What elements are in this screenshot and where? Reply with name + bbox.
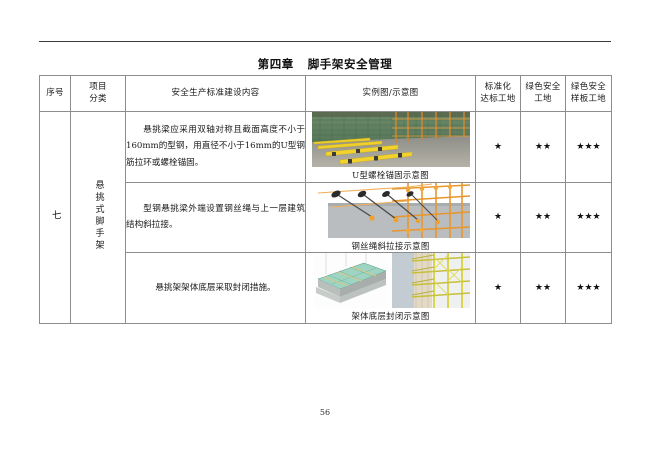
row-content: 悬挑架架体底层采取封闭措施。 xyxy=(126,253,306,324)
row-figure: 架体底层封闭示意图 xyxy=(306,253,476,324)
column-header-standard-site: 标准化 达标工地 xyxy=(476,76,521,112)
figure-bottom-seal-render xyxy=(312,253,470,308)
rating-standard-site: ★ xyxy=(476,182,521,253)
figure-caption: 架体底层封闭示意图 xyxy=(306,310,475,323)
column-header-figure: 实例图/示意图 xyxy=(306,76,476,112)
column-header-green-site: 绿色安全 工地 xyxy=(521,76,566,112)
row-content: 型钢悬挑梁外端设置钢丝绳与上一层建筑结构斜拉接。 xyxy=(126,182,306,253)
page-number: 56 xyxy=(0,408,650,417)
rating-green-model-site: ★★★ xyxy=(566,182,612,253)
figure-cantilever-beams-photo xyxy=(312,112,470,167)
row-content-text: 型钢悬挑梁外端设置钢丝绳与上一层建筑结构斜拉接。 xyxy=(126,201,305,235)
group-serial-text: 七 xyxy=(50,210,60,223)
table-row: 七 悬挑式脚手架 悬挑梁应采用双轴对称且截面高度不小于160mm的型钢，用直径不… xyxy=(40,112,612,183)
figure-caption: U型螺栓锚固示意图 xyxy=(306,169,475,182)
row-content-text: 悬挑梁应采用双轴对称且截面高度不小于160mm的型钢，用直径不小于16mm的U型… xyxy=(126,122,305,172)
rating-green-site: ★★ xyxy=(521,112,566,183)
row-figure: 钢丝绳斜拉接示意图 xyxy=(306,182,476,253)
standards-table: 序号 项目 分类 安全生产标准建设内容 实例图/示意图 标准化 达标工地 绿色安… xyxy=(39,75,612,324)
chapter-title: 第四章 脚手架安全管理 xyxy=(39,56,611,72)
rating-standard-site: ★ xyxy=(476,253,521,324)
rating-standard-site: ★ xyxy=(476,112,521,183)
rating-green-site: ★★ xyxy=(521,182,566,253)
table-header-row: 序号 项目 分类 安全生产标准建设内容 实例图/示意图 标准化 达标工地 绿色安… xyxy=(40,76,612,112)
group-serial-number: 七 xyxy=(40,112,71,324)
document-page: 第四章 脚手架安全管理 序号 项目 分类 安全生产标准建设内容 实例图/示意图 … xyxy=(0,0,650,459)
group-category-text: 悬挑式脚手架 xyxy=(94,180,103,252)
row-content-text: 悬挑架架体底层采取封闭措施。 xyxy=(126,280,305,297)
rating-green-site: ★★ xyxy=(521,253,566,324)
figure-caption: 钢丝绳斜拉接示意图 xyxy=(306,240,475,253)
column-header-green-model-site: 绿色安全 样板工地 xyxy=(566,76,612,112)
table-row: 悬挑架架体底层采取封闭措施。 xyxy=(40,253,612,324)
row-figure: U型螺栓锚固示意图 xyxy=(306,112,476,183)
table-row: 型钢悬挑梁外端设置钢丝绳与上一层建筑结构斜拉接。 xyxy=(40,182,612,253)
header-rule xyxy=(39,41,611,42)
figure-wire-rope-render xyxy=(312,183,470,238)
column-header-serial: 序号 xyxy=(40,76,71,112)
group-category: 悬挑式脚手架 xyxy=(71,112,126,324)
rating-green-model-site: ★★★ xyxy=(566,253,612,324)
column-header-content: 安全生产标准建设内容 xyxy=(126,76,306,112)
rating-green-model-site: ★★★ xyxy=(566,112,612,183)
column-header-category: 项目 分类 xyxy=(71,76,126,112)
row-content: 悬挑梁应采用双轴对称且截面高度不小于160mm的型钢，用直径不小于16mm的U型… xyxy=(126,112,306,183)
